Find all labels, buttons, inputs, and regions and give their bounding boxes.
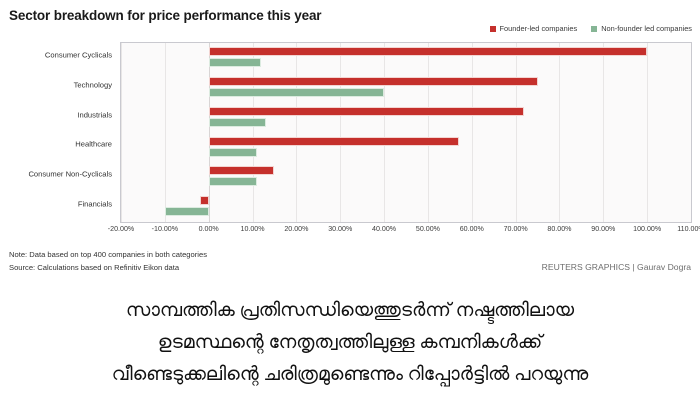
plot-canvas — [120, 42, 692, 223]
x-tick-label: 0.00% — [199, 225, 219, 233]
gridline — [603, 43, 604, 222]
x-tick-label: 10.00% — [241, 225, 265, 233]
x-tick-label: 70.00% — [504, 225, 528, 233]
y-axis-category-label: Financials — [78, 200, 112, 209]
gridline — [428, 43, 429, 222]
x-tick-label: -10.00% — [152, 225, 178, 233]
chart-notes: Note: Data based on top 400 companies in… — [9, 249, 207, 274]
bar-non-founder-led — [209, 118, 266, 127]
gridline — [340, 43, 341, 222]
gridline — [516, 43, 517, 222]
square-swatch-icon — [490, 26, 496, 32]
x-tick-label: 90.00% — [591, 225, 615, 233]
bar-non-founder-led — [209, 88, 384, 97]
chart-legend: Founder-led companies Non-founder led co… — [490, 24, 692, 33]
x-tick-label: 30.00% — [328, 225, 352, 233]
x-tick-label: 60.00% — [460, 225, 484, 233]
bar-founder-led — [209, 107, 525, 116]
square-swatch-icon — [591, 26, 597, 32]
gridline — [121, 43, 122, 222]
y-axis-category-label: Industrials — [77, 110, 112, 119]
gridline — [647, 43, 648, 222]
bar-non-founder-led — [209, 58, 262, 67]
graphics-credit: REUTERS GRAPHICS | Gaurav Dogra — [542, 262, 691, 272]
y-axis-category-label: Consumer Cyclicals — [45, 50, 112, 59]
x-tick-label: -20.00% — [108, 225, 134, 233]
top-divider — [0, 0, 700, 3]
x-tick-label: 50.00% — [416, 225, 440, 233]
bar-founder-led — [209, 47, 647, 56]
bar-non-founder-led — [165, 207, 209, 216]
gridline — [559, 43, 560, 222]
gridline — [472, 43, 473, 222]
source-line: Source: Calculations based on Refinitiv … — [9, 262, 207, 275]
gridline — [253, 43, 254, 222]
bar-founder-led — [209, 77, 538, 86]
reuters-graphic: Sector breakdown for price performance t… — [0, 0, 700, 284]
legend-label: Founder-led companies — [500, 24, 578, 33]
caption-line-3: വീണ്ടെടുക്കലിന്റെ ചരിത്രമുണ്ടെന്നും റിപ്… — [112, 360, 588, 390]
bar-founder-led — [200, 196, 209, 205]
caption-line-1: സാമ്പത്തിക പ്രതിസന്ധിയെത്തുടർന്ന് നഷ്ടത്… — [126, 296, 574, 326]
caption-line-2: ഉടമസ്ഥന്റെ നേതൃത്വത്തിലുള്ള കമ്പനികൾക്ക് — [158, 328, 542, 358]
y-axis-category-label: Consumer Non-Cyclicals — [28, 170, 112, 179]
note-line: Note: Data based on top 400 companies in… — [9, 249, 207, 262]
legend-item-founder-led[interactable]: Founder-led companies — [490, 24, 578, 33]
bar-founder-led — [209, 166, 275, 175]
bar-founder-led — [209, 137, 459, 146]
gridline — [384, 43, 385, 222]
x-tick-label: 110.00% — [677, 225, 700, 233]
y-axis-category-label: Technology — [74, 80, 112, 89]
legend-label: Non-founder led companies — [601, 24, 692, 33]
bar-non-founder-led — [209, 177, 257, 186]
chart-area: Consumer CyclicalsTechnologyIndustrialsH… — [8, 42, 692, 242]
bar-non-founder-led — [209, 148, 257, 157]
x-tick-label: 40.00% — [372, 225, 396, 233]
gridline — [691, 43, 692, 222]
y-axis-category-labels: Consumer CyclicalsTechnologyIndustrialsH… — [8, 42, 118, 223]
x-tick-label: 20.00% — [284, 225, 308, 233]
x-tick-label: 100.00% — [633, 225, 661, 233]
y-axis-category-label: Healthcare — [75, 140, 112, 149]
legend-item-non-founder-led[interactable]: Non-founder led companies — [591, 24, 692, 33]
page-title: Sector breakdown for price performance t… — [9, 8, 321, 23]
caption-block: സാമ്പത്തിക പ്രതിസന്ധിയെത്തുടർന്ന് നഷ്ടത്… — [0, 284, 700, 400]
gridline — [165, 43, 166, 222]
x-tick-label: 80.00% — [547, 225, 571, 233]
gridline — [209, 43, 210, 222]
x-axis-tick-labels: -20.00%-10.00%0.00%10.00%20.00%30.00%40.… — [120, 225, 692, 239]
gridline — [296, 43, 297, 222]
